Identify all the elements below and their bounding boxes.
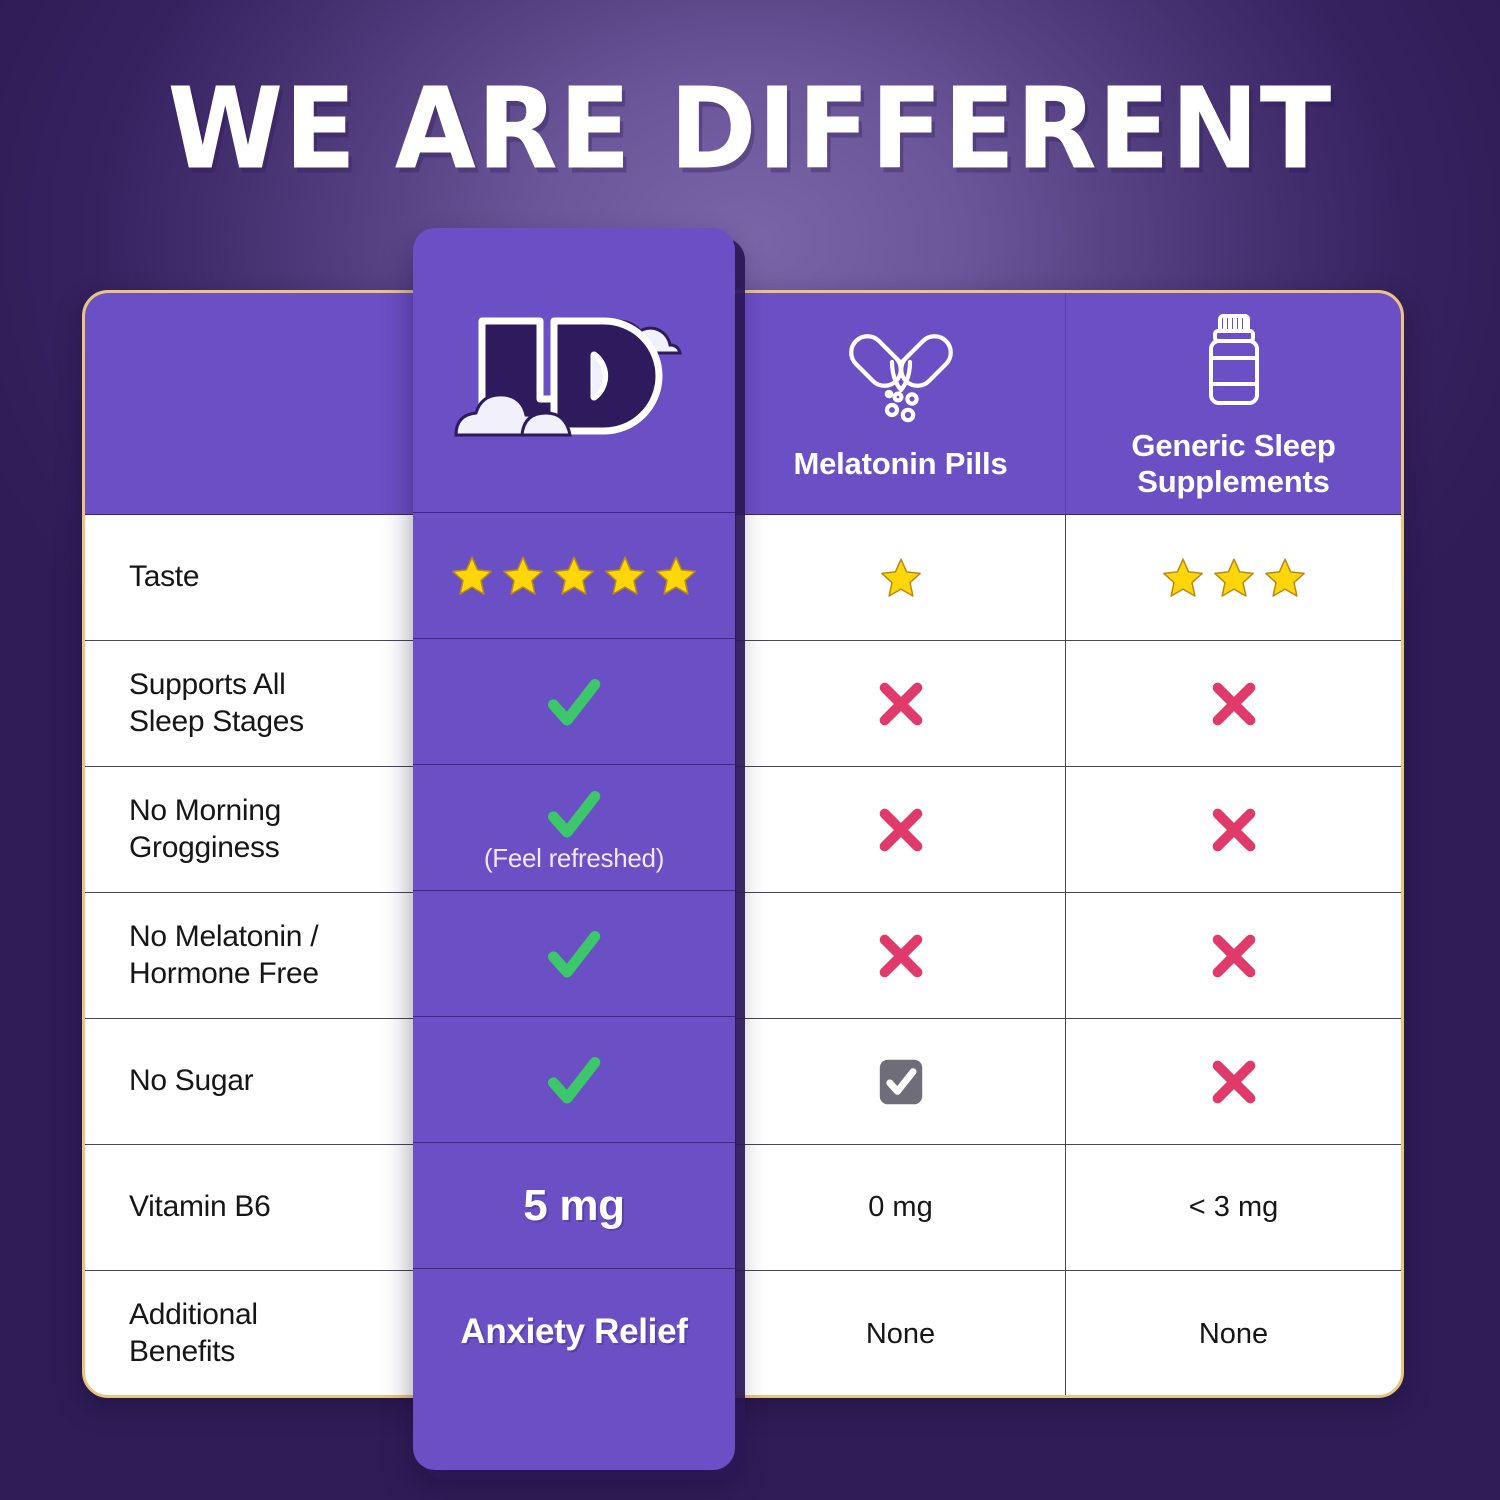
check-icon [541, 781, 607, 847]
star-icon [1160, 555, 1206, 601]
cell-melatonin-hormone-free [735, 893, 1065, 1018]
cell-melatonin-sleep-stages [735, 641, 1065, 766]
cell-melatonin-taste [735, 515, 1065, 640]
cross-icon [873, 802, 929, 858]
cell-generic-hormone-free [1065, 893, 1401, 1018]
star-icon [878, 555, 924, 601]
cell-generic-vitamin-b6: < 3 mg [1065, 1145, 1401, 1270]
star-icon [602, 553, 648, 599]
check-icon [541, 669, 607, 735]
cell-generic-taste [1065, 515, 1401, 640]
star-rating [878, 555, 924, 601]
ld-cell-additional-benefits: Anxiety Relief [413, 1268, 735, 1394]
row-label-no-sugar: No Sugar [85, 1019, 407, 1144]
header-label-generic: Generic SleepSupplements [1131, 428, 1335, 500]
cross-icon [873, 928, 929, 984]
row-label-grogginess: No MorningGrogginess [85, 767, 407, 892]
ld-note-refreshed: (Feel refreshed) [484, 843, 664, 874]
table-row: Taste [85, 515, 1401, 641]
checkbox-checked-icon [874, 1053, 928, 1111]
cross-icon [1206, 676, 1262, 732]
row-label-sleep-stages: Supports AllSleep Stages [85, 641, 407, 766]
ld-cell-hormone-free [413, 890, 735, 1016]
table-header-row: Melatonin Pills Generic SleepSupplements [85, 293, 1401, 515]
header-cell-feature [85, 293, 407, 514]
row-label-hormone-free: No Melatonin /Hormone Free [85, 893, 407, 1018]
cross-icon [1206, 1054, 1262, 1110]
table-row: Supports AllSleep Stages [85, 641, 1401, 767]
ld-cell-vitamin-b6: 5 mg [413, 1142, 735, 1268]
comparison-table: Melatonin Pills Generic SleepSupplements [82, 290, 1404, 1398]
header-cell-generic: Generic SleepSupplements [1065, 293, 1401, 514]
star-icon [500, 553, 546, 599]
table-row: No Sugar [85, 1019, 1401, 1145]
check-icon [541, 921, 607, 987]
row-label-vitamin-b6: Vitamin B6 [85, 1145, 407, 1270]
cell-generic-additional-benefits: None [1065, 1271, 1401, 1397]
row-label-additional-benefits: AdditionalBenefits [85, 1271, 407, 1397]
cell-melatonin-additional-benefits: None [735, 1271, 1065, 1397]
check-icon [541, 1047, 607, 1113]
page-title: WE ARE DIFFERENT [0, 64, 1500, 195]
ld-value-benefit: Anxiety Relief [460, 1312, 687, 1352]
star-icon [551, 553, 597, 599]
ld-logo-icon [444, 285, 704, 455]
header-cell-melatonin: Melatonin Pills [735, 293, 1065, 514]
cross-icon [1206, 928, 1262, 984]
star-icon [653, 553, 699, 599]
ld-value-b6: 5 mg [523, 1181, 625, 1231]
cell-generic-sleep-stages [1065, 641, 1401, 766]
cross-icon [873, 676, 929, 732]
cell-melatonin-no-sugar [735, 1019, 1065, 1144]
cell-melatonin-grogginess [735, 767, 1065, 892]
cell-melatonin-vitamin-b6: 0 mg [735, 1145, 1065, 1270]
ld-cell-grogginess: (Feel refreshed) [413, 764, 735, 890]
cross-icon [1206, 802, 1262, 858]
supplement-bottle-icon [1169, 308, 1299, 412]
cell-generic-grogginess [1065, 767, 1401, 892]
star-icon [449, 553, 495, 599]
capsule-pills-icon [836, 326, 966, 430]
table-row: No MorningGrogginess [85, 767, 1401, 893]
comparison-infographic: WE ARE DIFFERENT [0, 0, 1500, 1500]
table-row: AdditionalBenefits None None [85, 1271, 1401, 1397]
star-icon [1262, 555, 1308, 601]
table-row: Vitamin B6 0 mg < 3 mg [85, 1145, 1401, 1271]
ld-cell-no-sugar [413, 1016, 735, 1142]
star-rating [449, 553, 699, 599]
table-row: No Melatonin /Hormone Free [85, 893, 1401, 1019]
ld-brand-header [413, 228, 735, 512]
ld-cell-sleep-stages [413, 638, 735, 764]
star-rating [1160, 555, 1308, 601]
ld-cell-taste [413, 512, 735, 638]
row-label-taste: Taste [85, 515, 407, 640]
highlight-column-ld: (Feel refreshed) 5 mg Anxiety Relief [413, 228, 735, 1470]
header-label-melatonin: Melatonin Pills [793, 446, 1007, 482]
cell-generic-no-sugar [1065, 1019, 1401, 1144]
star-icon [1211, 555, 1257, 601]
